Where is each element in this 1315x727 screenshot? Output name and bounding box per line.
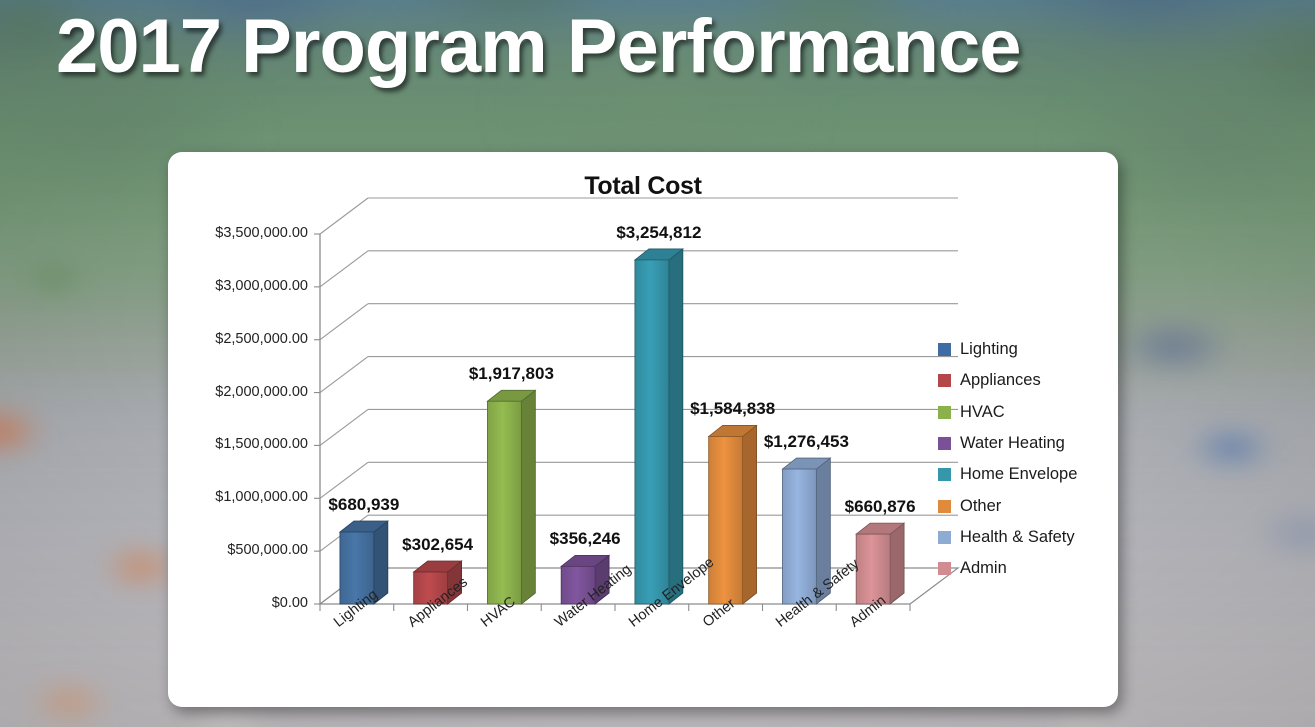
legend-item-label: HVAC bbox=[960, 403, 1005, 422]
legend-swatch-icon bbox=[938, 531, 951, 544]
bar-side-face bbox=[521, 390, 535, 604]
gridline-depth bbox=[320, 409, 368, 445]
legend-swatch-icon bbox=[938, 468, 951, 481]
y-axis-label: $2,500,000.00 bbox=[168, 331, 308, 347]
bar-front-face bbox=[782, 469, 816, 604]
legend-item-label: Health & Safety bbox=[960, 528, 1075, 547]
chart-legend: LightingAppliancesHVACWater HeatingHome … bbox=[938, 334, 1077, 584]
legend-item-health-safety[interactable]: Health & Safety bbox=[938, 522, 1077, 553]
bar-front-face bbox=[487, 401, 521, 604]
bar-home-envelope bbox=[635, 249, 683, 604]
gridline-depth bbox=[320, 198, 368, 234]
bar-value-label: $3,254,812 bbox=[589, 223, 729, 243]
legend-swatch-icon bbox=[938, 406, 951, 419]
y-axis-label: $500,000.00 bbox=[168, 542, 308, 558]
chart-card: Total Cost $680,939Lighting$302,654Appli… bbox=[168, 152, 1118, 707]
legend-item-label: Water Heating bbox=[960, 434, 1065, 453]
legend-item-hvac[interactable]: HVAC bbox=[938, 397, 1077, 428]
y-axis-label: $0.00 bbox=[168, 595, 308, 611]
bar-hvac bbox=[487, 390, 535, 604]
gridline-depth bbox=[320, 357, 368, 393]
bar-side-face bbox=[743, 425, 757, 604]
slide-title: 2017 Program Performance bbox=[56, 6, 1020, 88]
y-axis-label: $2,000,000.00 bbox=[168, 384, 308, 400]
legend-item-label: Admin bbox=[960, 559, 1007, 578]
bar-front-face bbox=[635, 260, 669, 604]
legend-item-label: Other bbox=[960, 497, 1001, 516]
legend-swatch-icon bbox=[938, 562, 951, 575]
bar-value-label: $302,654 bbox=[368, 535, 508, 555]
gridline-depth bbox=[320, 251, 368, 287]
legend-item-water-heating[interactable]: Water Heating bbox=[938, 428, 1077, 459]
bar-value-label: $356,246 bbox=[515, 529, 655, 549]
legend-swatch-icon bbox=[938, 343, 951, 356]
gridline-depth bbox=[320, 304, 368, 340]
bar-value-label: $1,584,838 bbox=[663, 399, 803, 419]
bar-value-label: $660,876 bbox=[810, 497, 950, 517]
y-axis-label: $1,500,000.00 bbox=[168, 436, 308, 452]
gridline-depth bbox=[320, 462, 368, 498]
legend-item-label: Lighting bbox=[960, 340, 1018, 359]
bar-value-label: $1,276,453 bbox=[736, 432, 876, 452]
legend-item-label: Home Envelope bbox=[960, 465, 1077, 484]
bar-value-label: $1,917,803 bbox=[441, 364, 581, 384]
legend-item-label: Appliances bbox=[960, 371, 1041, 390]
legend-swatch-icon bbox=[938, 437, 951, 450]
legend-item-appliances[interactable]: Appliances bbox=[938, 365, 1077, 396]
bar-value-label: $680,939 bbox=[294, 495, 434, 515]
bar-side-face bbox=[890, 523, 904, 604]
bar-side-face bbox=[374, 521, 388, 604]
y-axis-label: $3,000,000.00 bbox=[168, 278, 308, 294]
legend-swatch-icon bbox=[938, 500, 951, 513]
y-axis-label: $1,000,000.00 bbox=[168, 489, 308, 505]
bar-front-face bbox=[709, 436, 743, 604]
legend-item-home-envelope[interactable]: Home Envelope bbox=[938, 459, 1077, 490]
bar-admin bbox=[856, 523, 904, 604]
bar-side-face bbox=[669, 249, 683, 604]
legend-item-other[interactable]: Other bbox=[938, 490, 1077, 521]
bar-other bbox=[709, 425, 757, 604]
y-axis-label: $3,500,000.00 bbox=[168, 225, 308, 241]
legend-swatch-icon bbox=[938, 374, 951, 387]
legend-item-admin[interactable]: Admin bbox=[938, 553, 1077, 584]
legend-item-lighting[interactable]: Lighting bbox=[938, 334, 1077, 365]
